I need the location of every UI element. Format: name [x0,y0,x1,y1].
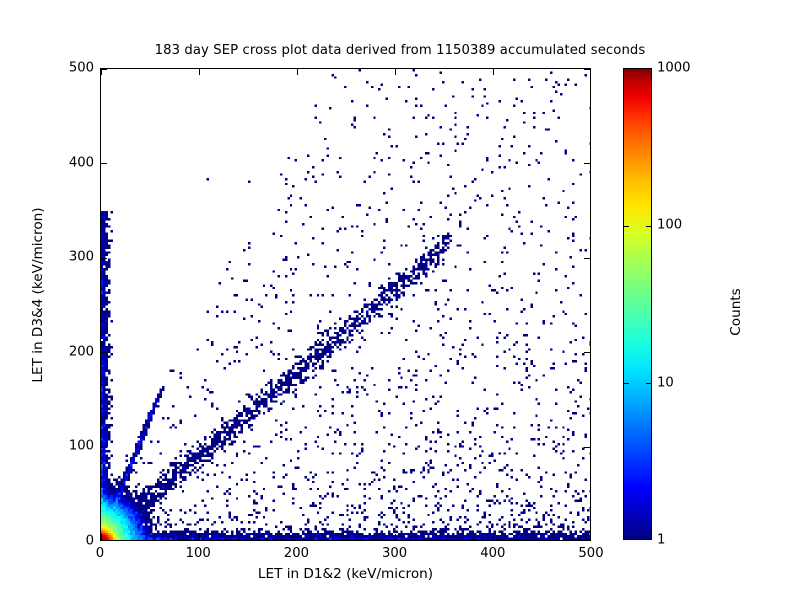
y-ticklabel-0: 0 [86,534,94,549]
y-ticklabel-300: 300 [69,250,94,265]
y-tick-200 [584,352,590,353]
colorbar-ticklabel-1: 1 [657,533,665,548]
x-ticklabel-400: 400 [480,546,505,561]
title-line-1: 183 day SEP cross plot data derived from… [0,42,800,59]
x-axis-label: LET in D1&2 (keV/micron) [100,566,591,582]
x-ticklabel-0: 0 [96,546,104,561]
x-ticklabel-100: 100 [186,546,211,561]
figure-canvas: 183 day SEP cross plot data derived from… [0,0,800,600]
colorbar[interactable] [623,68,652,540]
x-tick-400 [493,534,494,540]
y-tick-300 [584,258,590,259]
x-tick-100 [199,534,200,540]
colorbar-tick-10 [646,383,651,384]
x-ticklabel-300: 300 [382,546,407,561]
y-tick-400 [101,163,107,164]
x-tick-200 [297,69,298,75]
y-tick-400 [584,163,590,164]
scatter-density-canvas [101,69,591,541]
x-ticklabel-200: 200 [284,546,309,561]
x-tick-400 [493,69,494,75]
y-tick-500 [101,68,107,69]
colorbar-label: Counts [728,212,744,412]
x-tick-300 [395,534,396,540]
y-tick-200 [101,352,107,353]
x-ticklabel-500: 500 [578,546,603,561]
colorbar-ticklabel-10: 10 [657,375,674,390]
x-tick-0 [100,69,101,75]
y-ticklabel-400: 400 [69,155,94,170]
colorbar-ticklabel-100: 100 [657,218,682,233]
x-tick-200 [297,534,298,540]
y-axis-label: LET in D3&4 (keV/micron) [30,145,46,445]
x-tick-300 [395,69,396,75]
colorbar-tick-100 [646,226,651,227]
colorbar-tick-100 [624,226,629,227]
y-tick-300 [101,258,107,259]
y-tick-100 [101,447,107,448]
plot-axes-area[interactable] [100,68,591,541]
colorbar-ticklabel-1000: 1000 [657,61,691,76]
y-ticklabel-100: 100 [69,439,94,454]
y-ticklabel-200: 200 [69,344,94,359]
y-tick-500 [584,68,590,69]
x-tick-100 [199,69,200,75]
colorbar-tick-10 [624,383,629,384]
y-axis-ticklabels: 0100200300400500 [0,0,94,600]
y-tick-100 [584,447,590,448]
y-ticklabel-500: 500 [69,61,94,76]
x-tick-0 [100,534,101,540]
